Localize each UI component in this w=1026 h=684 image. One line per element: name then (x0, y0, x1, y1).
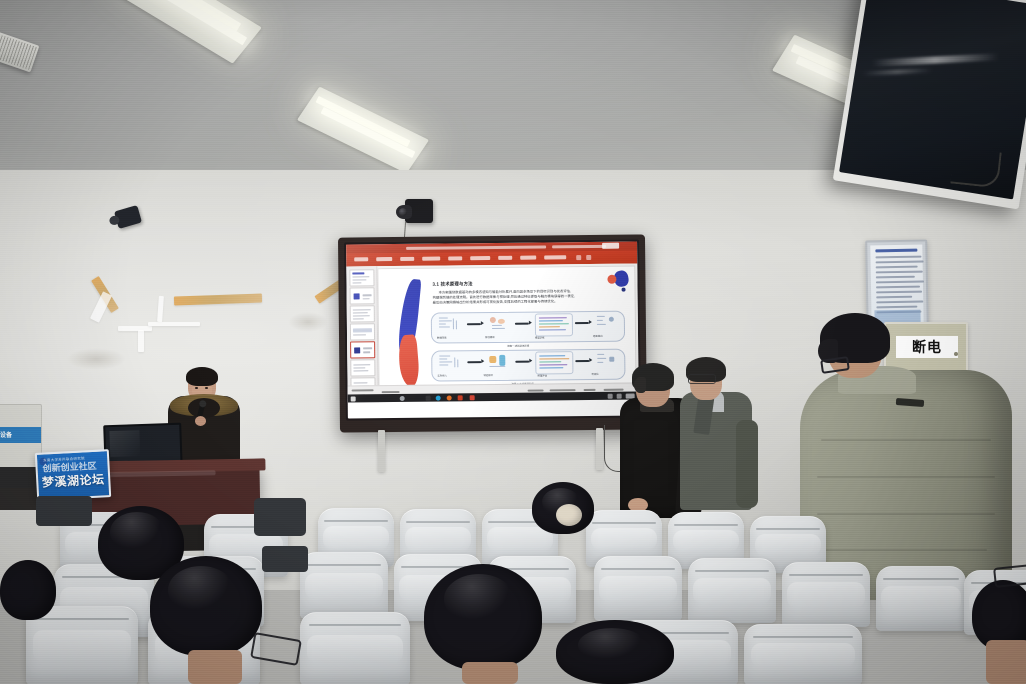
audience-head-sheen (444, 574, 514, 624)
pipeline-step-icon (595, 352, 617, 371)
power-off-sign: 断电 (896, 336, 958, 358)
wall-tape-white-3 (118, 326, 152, 331)
ribbon-tab (354, 257, 368, 261)
ribbon-tab (544, 255, 566, 259)
lecture-hall-photo: 断电 (0, 0, 1026, 684)
audience-neck (188, 650, 242, 684)
panel-lock-icon (954, 352, 958, 356)
notice-paper (870, 245, 923, 328)
seat-back-dark (254, 498, 306, 536)
pipeline-step-label: 模型训练 (535, 335, 545, 339)
lectern-sheen (96, 470, 216, 477)
pipeline-step-icon (437, 353, 463, 372)
standing-man-2-glasses-icon (688, 374, 716, 384)
seat-row3[interactable] (300, 552, 388, 619)
display-bezel: 3.1 技术原理与方法 本方案围绕数据驱动的多模态感知与智能分析展开,面向复杂场… (344, 239, 641, 420)
seat-row3[interactable] (688, 558, 776, 623)
slide-thumbnail[interactable] (350, 305, 375, 322)
ribbon-icon (586, 255, 591, 260)
pipeline-step-icon (595, 314, 617, 333)
banner-main-text: 梦溪湖论坛 (38, 470, 109, 491)
pipeline-step-label: 特征融合 (483, 373, 493, 377)
laptop-screen-glare (109, 430, 139, 457)
cabinet-label-band: 设备 (0, 427, 41, 443)
power-off-sign-text: 断电 (912, 337, 942, 357)
notice-title-bar (875, 249, 917, 253)
pipeline-row-label: 流程一:离线训练阶段 (507, 344, 529, 348)
taskbar-icon-app5[interactable] (470, 395, 475, 400)
seat-row3[interactable] (782, 562, 870, 627)
pipeline-step-label: 结果输出 (593, 334, 603, 338)
slide-body-line-3: 最后由决策网络输出分析结果并形成可视化报告,支撑后续的工程化部署与持续优化。 (433, 299, 558, 305)
presenter-hand (195, 416, 206, 426)
standing-man-1-hair (632, 363, 674, 391)
presentation-display[interactable]: 3.1 技术原理与方法 本方案围绕数据驱动的多模态感知与智能分析展开,面向复杂场… (338, 234, 647, 432)
windows-taskbar[interactable] (348, 391, 639, 402)
conference-camera-icon (405, 199, 433, 223)
display-mount-left (378, 430, 385, 472)
audience-head-sheen (110, 512, 164, 552)
presenter-hair (186, 367, 218, 386)
taskbar-icon-app1[interactable] (426, 395, 431, 400)
ribbon-tab (422, 257, 440, 261)
seat-row1[interactable] (744, 624, 862, 684)
slide-thumbnail-panel[interactable] (346, 266, 378, 402)
taskbar-icon-app4[interactable] (458, 395, 463, 400)
audience-glasses-icon (993, 564, 1026, 588)
taskbar-tray-icon[interactable] (617, 393, 622, 398)
slide-decorative-blob (394, 279, 425, 389)
seat-row1[interactable] (300, 612, 410, 684)
slide-blob-red (397, 334, 420, 387)
pipeline-step-label: 可视化 (591, 372, 598, 376)
presenter-eye-left (195, 387, 198, 389)
forum-banner-sign: 东南大学苏州联合研究院 创新创业社区 梦溪湖论坛 (35, 449, 111, 501)
pipeline-step-icon (535, 313, 573, 336)
pipeline-step-icon (487, 353, 511, 372)
tv-glare-secondary (862, 68, 933, 76)
taskbar-icon-app3[interactable] (447, 395, 452, 400)
powerpoint-window[interactable]: 3.1 技术原理与方法 本方案围绕数据驱动的多模态感知与智能分析展开,面向复杂场… (346, 241, 639, 418)
audience-hair-clip-icon (556, 504, 582, 526)
display-mount-right (596, 428, 603, 470)
slide-logo-shape-red (607, 275, 616, 284)
ribbon-tab (376, 257, 392, 261)
pipeline-step-icon (535, 351, 573, 374)
audience-neck (462, 662, 518, 684)
pipeline-step-icon (487, 315, 511, 334)
powerpoint-workspace[interactable]: 3.1 技术原理与方法 本方案围绕数据驱动的多模态感知与智能分析展开,面向复杂场… (346, 263, 638, 402)
pipeline-step-label: 推理评估 (537, 373, 547, 377)
pipeline-step-label: 特征提取 (485, 335, 495, 339)
ribbon-tab (520, 256, 536, 260)
wall-tape-white-4 (148, 322, 200, 326)
seat-row3[interactable] (594, 556, 682, 621)
presenter-eye-right (205, 387, 208, 389)
slide-logo-dot (622, 288, 626, 292)
taskbar-icon-search[interactable] (400, 396, 405, 401)
seat-back-dark (36, 496, 92, 526)
ribbon-icon (576, 255, 581, 260)
ribbon-tab (470, 256, 490, 260)
ribbon-tab (448, 256, 462, 260)
seat-row3[interactable] (876, 566, 966, 631)
slide-thumbnail[interactable] (350, 323, 375, 340)
standing-man-3-hair (820, 313, 890, 363)
slide-thumbnail[interactable] (350, 359, 375, 376)
taskbar-tray-icon[interactable] (608, 393, 613, 398)
camera-lens-icon (399, 208, 407, 216)
wall-tape-white-5 (138, 330, 144, 352)
pipeline-step-label: 实时接入 (437, 373, 447, 377)
active-slide[interactable]: 3.1 技术原理与方法 本方案围绕数据驱动的多模态感知与智能分析展开,面向复杂场… (377, 266, 636, 393)
wall-smudge-2 (66, 348, 126, 370)
audience-neck (986, 640, 1026, 684)
seat-row1[interactable] (26, 606, 138, 684)
powerpoint-ribbon[interactable] (346, 241, 637, 266)
audience-head-sheen (168, 566, 234, 614)
slide-thumbnail[interactable] (349, 269, 374, 286)
ribbon-tab (498, 256, 512, 260)
seat-back-dark (262, 546, 308, 572)
audience-head-sheen (578, 628, 646, 662)
start-button-icon[interactable] (351, 396, 356, 401)
pipeline-step-icon (437, 315, 463, 334)
ribbon-tab (400, 257, 414, 261)
slide-thumbnail[interactable] (350, 287, 375, 304)
standing-man-2-arm (736, 420, 758, 508)
tv-glare (872, 53, 999, 67)
banner-top-area: 东南大学苏州联合研究院 创新创业社区 (39, 453, 106, 471)
audience-head (0, 560, 56, 620)
slide-thumbnail-active[interactable] (350, 341, 375, 358)
pipeline-step-label: 数据采集 (437, 335, 447, 339)
slide-title: 3.1 技术原理与方法 (432, 281, 472, 287)
cabinet-label-text: 设备 (0, 430, 12, 439)
taskbar-icon-app2[interactable] (436, 395, 441, 400)
wall-smudge (288, 312, 328, 332)
quick-access-toolbar[interactable] (602, 243, 619, 249)
